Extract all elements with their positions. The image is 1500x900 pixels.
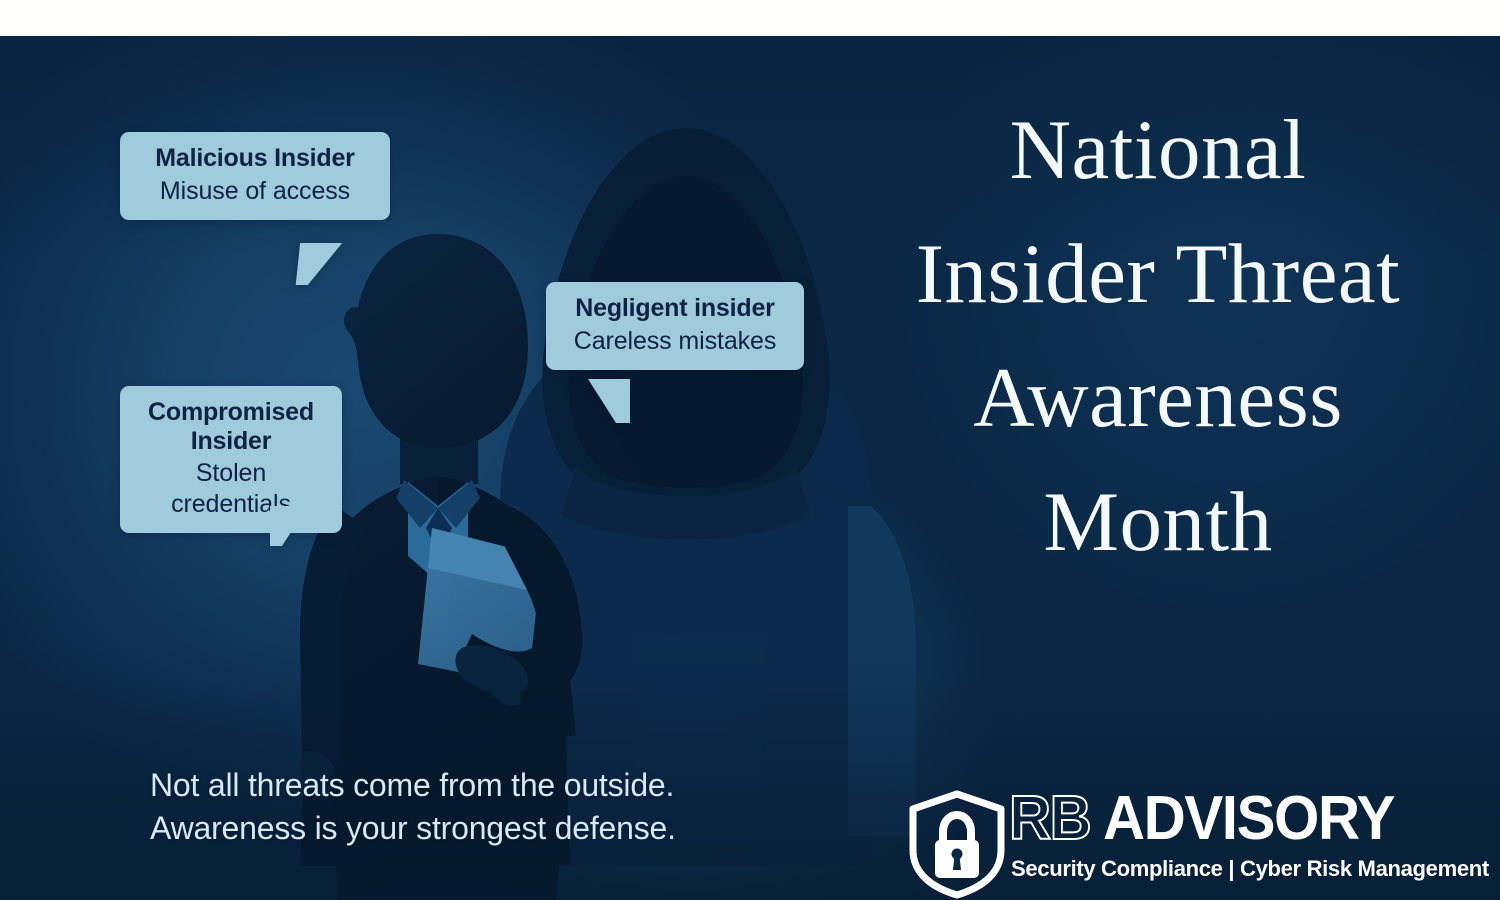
- poster-tagline: Not all threats come from the outside. A…: [150, 764, 770, 850]
- callout-subtitle: Careless mistakes: [566, 326, 784, 357]
- rb-advisory-logo: RB ADVISORY Security Compliance | Cyber …: [905, 788, 1425, 900]
- poster-background: Malicious Insider Misuse of access Negli…: [0, 36, 1500, 900]
- shield-lock-icon: [905, 788, 1009, 900]
- callout-tail: [588, 379, 630, 423]
- logo-brand-name: RB ADVISORY: [1009, 788, 1394, 850]
- callout-malicious-insider: Malicious Insider Misuse of access: [120, 132, 390, 220]
- logo-brand-suffix: ADVISORY: [1090, 784, 1394, 853]
- callout-tail: [296, 243, 342, 285]
- callout-subtitle: Misuse of access: [140, 176, 370, 207]
- callout-title: Compromised Insider: [140, 398, 322, 455]
- logo-tagline: Security Compliance | Cyber Risk Managem…: [1011, 856, 1489, 882]
- callout-tail: [270, 506, 308, 546]
- logo-wordmark: RB ADVISORY Security Compliance | Cyber …: [1009, 788, 1425, 900]
- callout-negligent-insider: Negligent insider Careless mistakes: [546, 282, 804, 370]
- callout-compromised-insider: Compromised Insider Stolen credentials: [120, 386, 342, 533]
- callout-title: Negligent insider: [566, 294, 784, 323]
- top-white-strip: [0, 0, 1500, 36]
- callout-title: Malicious Insider: [140, 144, 370, 173]
- logo-brand-prefix: RB: [1009, 784, 1090, 853]
- poster-canvas: Malicious Insider Misuse of access Negli…: [0, 0, 1500, 900]
- poster-headline: National Insider Threat Awareness Month: [852, 88, 1464, 584]
